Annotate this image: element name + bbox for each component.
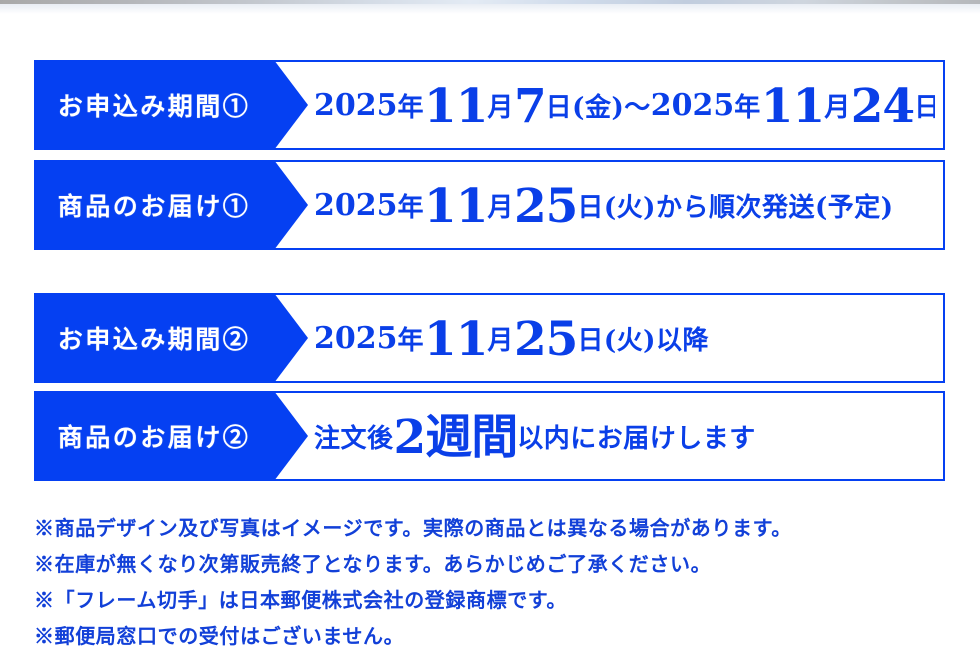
footnote-item: ※「フレーム切手」は日本郵便株式会社の登録商標です。 [34, 582, 954, 618]
value-segment: 年 [398, 187, 425, 224]
value-segment: 24 [851, 83, 914, 130]
value-segment: 週間 [425, 414, 517, 461]
value-segment: 日 [577, 320, 604, 357]
row-label-text: お申込み期間② [58, 320, 251, 356]
value-segment: 2025 [314, 88, 398, 123]
value-segment: (金) [572, 87, 624, 124]
row-label-arrow-icon [274, 160, 308, 250]
row-value-application-period-1: 2025 年 11 月 7 日 (金) ～ 2025 年 11 月 24 日 (… [314, 62, 935, 148]
value-segment: 2 [394, 414, 426, 461]
value-segment: 月 [487, 320, 514, 357]
value-segment: 年 [734, 87, 761, 124]
value-segment: 11 [424, 316, 487, 363]
value-segment: 7 [514, 83, 546, 130]
schedule-row-delivery-1: 商品のお届け① 2025 年 11 月 25 日 (火) から順次発送(予定) [34, 160, 945, 250]
value-segment: 月 [487, 187, 514, 224]
value-segment: 日 [914, 87, 935, 124]
value-segment: ～ [624, 87, 651, 124]
value-segment: 注文後 [314, 418, 394, 455]
row-label-block: 商品のお届け② [34, 391, 274, 481]
value-segment: 日 [577, 187, 604, 224]
value-segment: 2025 [314, 321, 398, 356]
value-segment: 年 [398, 87, 425, 124]
footnote-item: ※在庫が無くなり次第販売終了となります。あらかじめご了承ください。 [34, 546, 954, 582]
value-segment: 11 [424, 183, 487, 230]
value-segment: (火) [604, 187, 656, 224]
value-segment: 以降 [656, 320, 709, 357]
footnote-list: ※商品デザイン及び写真はイメージです。実際の商品とは異なる場合があります。 ※在… [34, 510, 954, 654]
value-segment: 25 [514, 316, 577, 363]
value-segment: 25 [514, 183, 577, 230]
value-segment: 2025 [651, 88, 735, 123]
row-label-arrow-icon [274, 293, 308, 383]
value-segment: 以内にお届けします [517, 418, 756, 455]
footnote-item: ※商品デザイン及び写真はイメージです。実際の商品とは異なる場合があります。 [34, 510, 954, 546]
row-value-delivery-1: 2025 年 11 月 25 日 (火) から順次発送(予定) [314, 162, 935, 248]
value-segment: 2025 [314, 188, 398, 223]
value-segment: 月 [487, 87, 514, 124]
value-segment: から順次発送(予定) [656, 187, 894, 224]
row-value-application-period-2: 2025 年 11 月 25 日 (火) 以降 [314, 295, 935, 381]
value-segment: 11 [761, 83, 824, 130]
schedule-information-sheet: お申込み期間① 2025 年 11 月 7 日 (金) ～ 2025 年 11 … [0, 0, 980, 660]
row-label-block: 商品のお届け① [34, 160, 274, 250]
value-segment: 11 [424, 83, 487, 130]
schedule-row-application-period-1: お申込み期間① 2025 年 11 月 7 日 (金) ～ 2025 年 11 … [34, 60, 945, 150]
row-label-arrow-icon [274, 391, 308, 481]
footnote-item: ※郵便局窓口での受付はございません。 [34, 618, 954, 654]
row-label-block: お申込み期間① [34, 60, 274, 150]
top-section-edge-fade [0, 4, 980, 14]
value-segment: (火) [604, 320, 656, 357]
value-segment: 日 [546, 87, 573, 124]
row-label-text: 商品のお届け② [58, 418, 251, 454]
value-segment: 年 [398, 320, 425, 357]
row-label-text: 商品のお届け① [58, 187, 251, 223]
schedule-row-delivery-2: 商品のお届け② 注文後 2 週間 以内にお届けします [34, 391, 945, 481]
value-segment: 月 [824, 87, 851, 124]
row-value-delivery-2: 注文後 2 週間 以内にお届けします [314, 393, 935, 479]
row-label-arrow-icon [274, 60, 308, 150]
row-label-text: お申込み期間① [58, 87, 251, 123]
row-label-block: お申込み期間② [34, 293, 274, 383]
schedule-row-application-period-2: お申込み期間② 2025 年 11 月 25 日 (火) 以降 [34, 293, 945, 383]
